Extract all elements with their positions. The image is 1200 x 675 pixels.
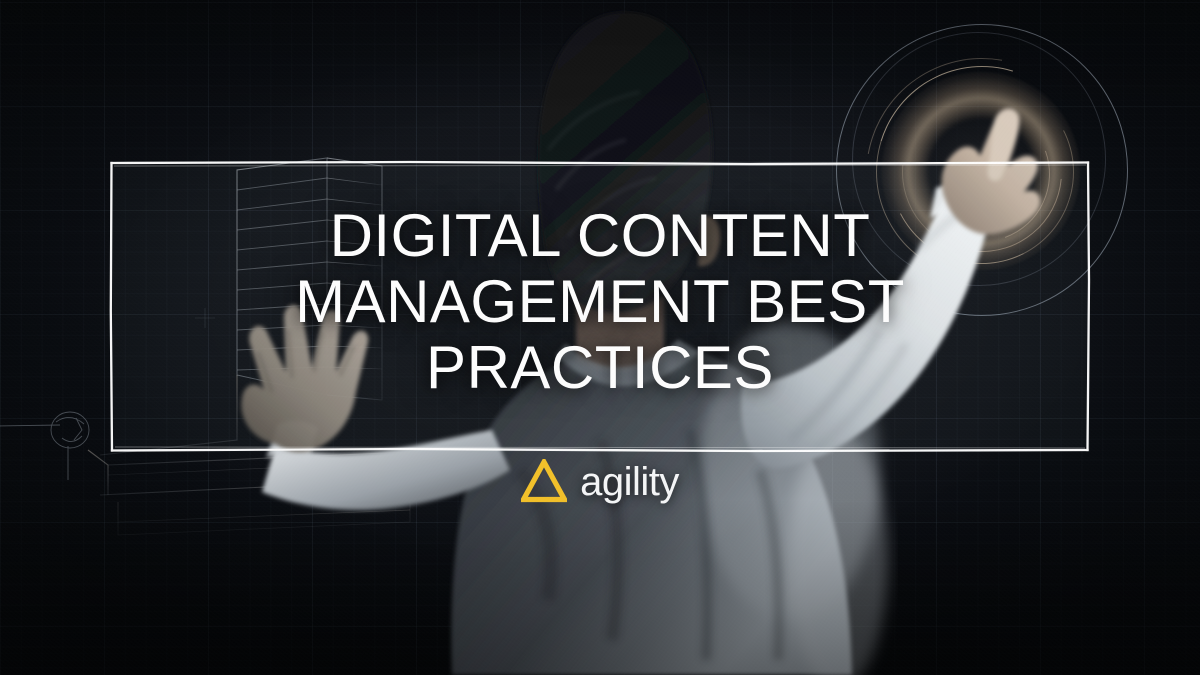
title-line-3: PRACTICES bbox=[210, 335, 990, 401]
title-line-1: DIGITAL CONTENT bbox=[210, 203, 990, 269]
page-title: DIGITAL CONTENT MANAGEMENT BEST PRACTICE… bbox=[210, 203, 990, 401]
brand-logo[interactable]: agility bbox=[0, 459, 1200, 503]
hero-content: DIGITAL CONTENT MANAGEMENT BEST PRACTICE… bbox=[0, 0, 1200, 675]
hero-banner: DIGITAL CONTENT MANAGEMENT BEST PRACTICE… bbox=[0, 0, 1200, 675]
triangle-outline-icon bbox=[521, 459, 567, 503]
brand-wordmark: agility bbox=[580, 462, 679, 502]
title-line-2: MANAGEMENT BEST bbox=[210, 269, 990, 335]
